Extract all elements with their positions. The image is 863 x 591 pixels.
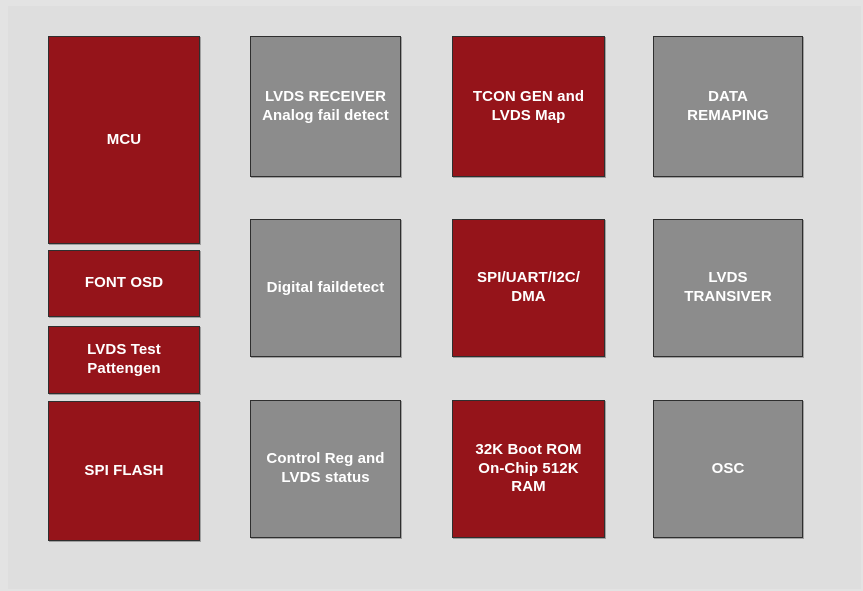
lvds-test-pattengen-block-label: LVDS Test Pattengen <box>55 341 193 379</box>
tcon-gen-lvds-map-block[interactable]: TCON GEN and LVDS Map <box>452 36 605 177</box>
data-remaping-block[interactable]: DATA REMAPING <box>653 36 803 177</box>
digital-faildetect-block-label: Digital faildetect <box>257 279 394 298</box>
diagram-canvas: MCUFONT OSDLVDS Test PattengenSPI FLASHL… <box>0 0 863 591</box>
spi-flash-block-label: SPI FLASH <box>55 462 193 481</box>
data-remaping-block-label: DATA REMAPING <box>660 88 796 126</box>
lvds-receiver-block-label: LVDS RECEIVER Analog fail detect <box>257 88 394 126</box>
diagram-frame: MCUFONT OSDLVDS Test PattengenSPI FLASHL… <box>8 6 861 589</box>
lvds-transiver-block-label: LVDS TRANSIVER <box>660 269 796 307</box>
osc-block[interactable]: OSC <box>653 400 803 538</box>
lvds-transiver-block[interactable]: LVDS TRANSIVER <box>653 219 803 357</box>
digital-faildetect-block[interactable]: Digital faildetect <box>250 219 401 357</box>
lvds-test-pattengen-block[interactable]: LVDS Test Pattengen <box>48 326 200 394</box>
font-osd-block[interactable]: FONT OSD <box>48 250 200 317</box>
spi-uart-i2c-dma-block[interactable]: SPI/UART/I2C/ DMA <box>452 219 605 357</box>
tcon-gen-lvds-map-block-label: TCON GEN and LVDS Map <box>459 88 598 126</box>
lvds-receiver-block[interactable]: LVDS RECEIVER Analog fail detect <box>250 36 401 177</box>
osc-block-label: OSC <box>660 460 796 479</box>
boot-rom-ram-block[interactable]: 32K Boot ROM On-Chip 512K RAM <box>452 400 605 538</box>
control-reg-lvds-status-block-label: Control Reg and LVDS status <box>257 450 394 488</box>
spi-flash-block[interactable]: SPI FLASH <box>48 401 200 541</box>
control-reg-lvds-status-block[interactable]: Control Reg and LVDS status <box>250 400 401 538</box>
mcu-block[interactable]: MCU <box>48 36 200 244</box>
font-osd-block-label: FONT OSD <box>55 274 193 293</box>
boot-rom-ram-block-label: 32K Boot ROM On-Chip 512K RAM <box>459 441 598 497</box>
spi-uart-i2c-dma-block-label: SPI/UART/I2C/ DMA <box>459 269 598 307</box>
mcu-block-label: MCU <box>55 131 193 150</box>
